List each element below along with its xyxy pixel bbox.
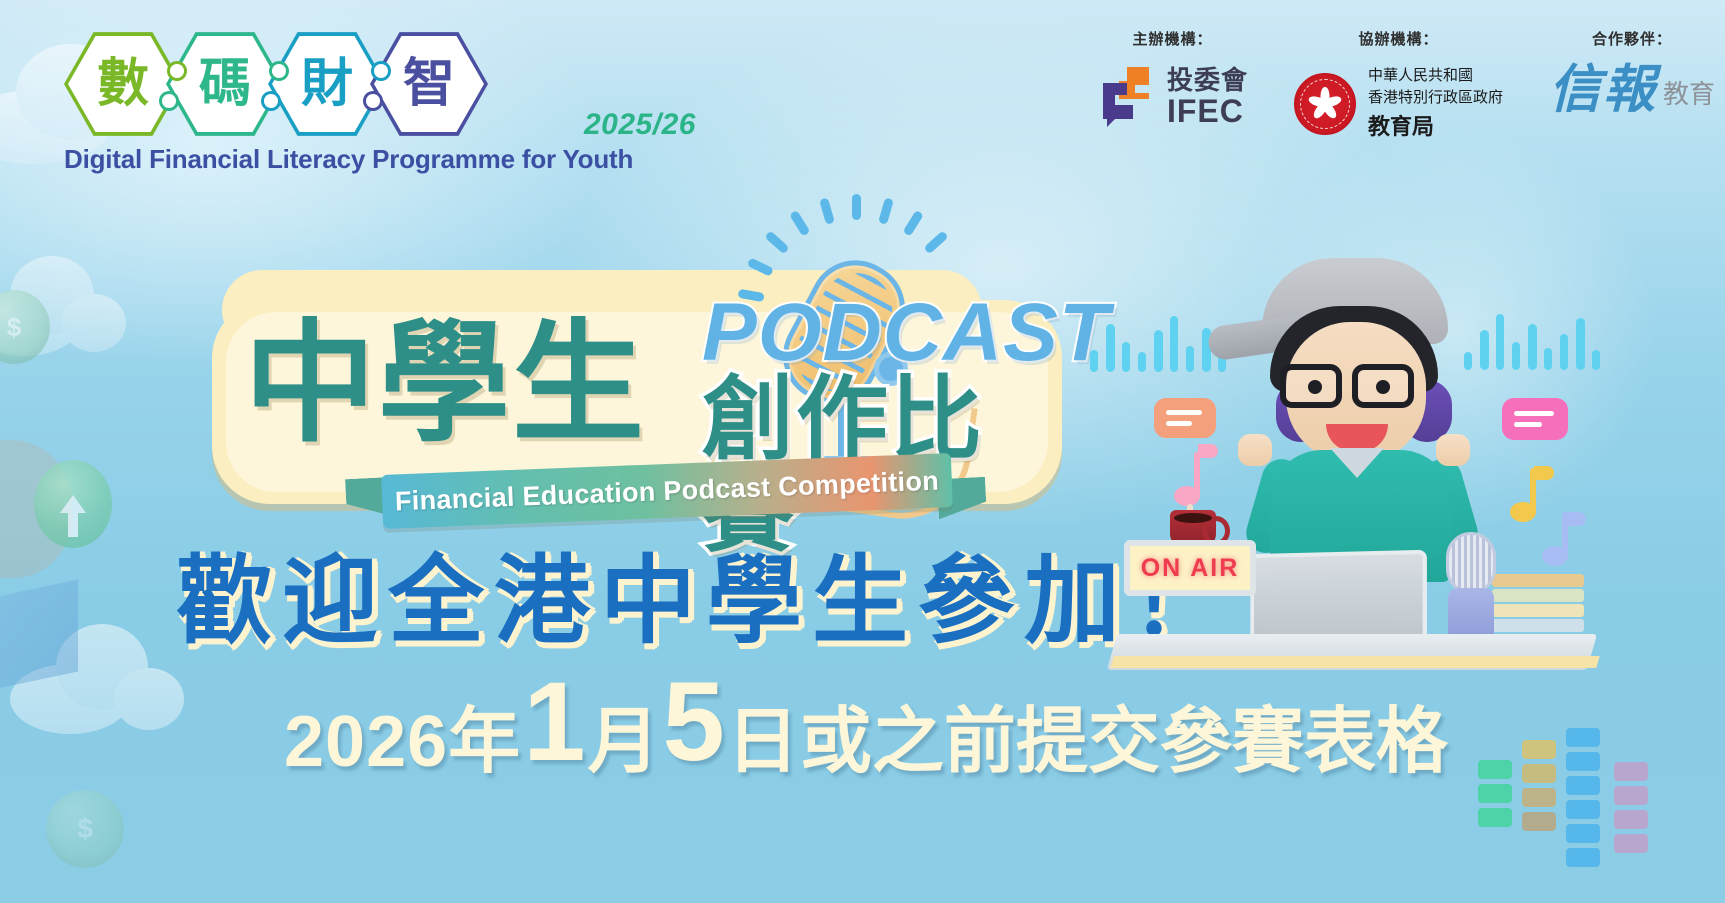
logo-hex-4: 智 (370, 30, 488, 138)
logo-hex-row: 數 碼 財 智 (64, 30, 633, 138)
deadline-tail: 或之前提交參賽表格 (800, 706, 1448, 778)
on-air-text: ON AIR (1141, 554, 1240, 583)
music-note-icon (1542, 512, 1588, 566)
chat-bubble-icon (1154, 398, 1216, 438)
edb-line3: 教育局 (1368, 111, 1503, 143)
coin-decoration: $ (46, 790, 124, 868)
logo-hex-char: 碼 (199, 58, 251, 110)
hksar-bauhinia-emblem-icon (1294, 73, 1356, 135)
desk-edge (1110, 656, 1599, 668)
coin-symbol: $ (77, 813, 93, 845)
hkej-name-cn: 信報 (1549, 65, 1657, 114)
promo-banner: $ $ 數 (0, 0, 1725, 903)
programme-year: 2025/26 (584, 108, 696, 142)
music-note-icon (1174, 444, 1224, 506)
ifec-logo-icon (1097, 65, 1155, 129)
partner-co-organiser: 協辦機構： 中華人民共和國 香港特別行政區政府 教育局 (1294, 28, 1503, 142)
hero-title-podcast: PODCAST (702, 292, 1110, 374)
hero-title-cn: 中學生 (244, 318, 646, 450)
logo-hex-2: 碼 (166, 30, 284, 138)
edb-line1: 中華人民共和國 (1368, 65, 1503, 87)
sound-wave-icon (1464, 310, 1614, 370)
edb-line2: 香港特別行政區政府 (1368, 87, 1503, 109)
partner-label: 主辦機構： (1132, 28, 1212, 49)
partner-logos: 主辦機構： 投委會 IFEC 協辦機構： (1097, 28, 1715, 142)
logo-hex-1: 數 (64, 30, 182, 138)
arrow-up-icon (34, 460, 112, 548)
partner-label: 協辦機構： (1358, 28, 1438, 49)
ifec-name-cn: 投委會 (1167, 67, 1248, 94)
programme-subtitle-en: Digital Financial Literacy Programme for… (64, 144, 633, 175)
ribbon-text-en: Financial Education Podcast Competition (394, 465, 939, 517)
hero-lockup: 中學生 PODCAST 創作比賽 Financial Education Pod… (196, 196, 1076, 536)
ifec-name-en: IFEC (1167, 95, 1248, 127)
deadline-day-number: 5 (663, 666, 725, 778)
programme-logo: 數 碼 財 智 2025/26 Digital Finan (64, 30, 633, 175)
logo-hex-3: 財 (268, 30, 386, 138)
edb-name-block: 中華人民共和國 香港特別行政區政府 教育局 (1368, 65, 1503, 142)
logo-hex-char: 財 (301, 58, 353, 110)
partner-collaborator: 合作夥伴： 信報 教育 (1549, 28, 1715, 114)
coin-symbol: $ (7, 312, 21, 343)
podcaster-scene: ON AIR (1112, 252, 1612, 652)
fist-left (1238, 434, 1272, 466)
fist-right (1436, 434, 1470, 466)
deadline-day-unit: 日 (727, 706, 800, 778)
chat-bubble-icon (1502, 398, 1568, 440)
logo-hex-char: 智 (403, 58, 455, 110)
glasses-icon (1280, 364, 1432, 410)
deadline-year: 2026年 (284, 706, 521, 778)
partner-organiser: 主辦機構： 投委會 IFEC (1097, 28, 1248, 129)
on-air-sign: ON AIR (1124, 540, 1256, 596)
hkej-logo-icon: 信報 教育 (1549, 65, 1715, 114)
hkej-name-sub: 教育 (1663, 82, 1715, 108)
logo-hex-char: 數 (97, 58, 149, 110)
partner-label: 合作夥伴： (1592, 28, 1672, 49)
deadline-month-number: 1 (523, 666, 585, 778)
deadline-line: 2026年 1 月 5 日 或之前提交參賽表格 (284, 666, 1344, 778)
page-headline: 歡迎全港中學生參加！ (176, 552, 1106, 653)
deadline-month-unit: 月 (587, 706, 660, 778)
